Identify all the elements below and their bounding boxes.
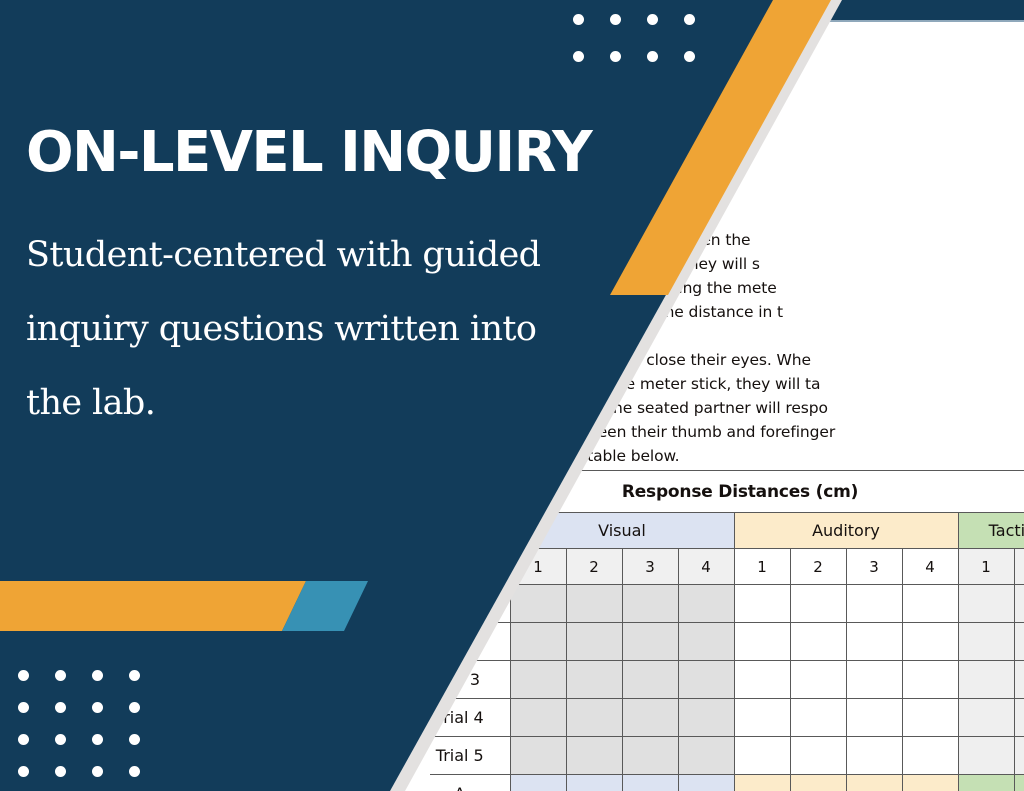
dot-icon <box>55 734 66 745</box>
trial-number-auditory-1: 1 <box>734 549 790 585</box>
data-cell[interactable] <box>510 623 566 661</box>
data-cell[interactable] <box>678 623 734 661</box>
dot-grid-bottom <box>18 670 166 791</box>
data-cell[interactable] <box>1014 775 1024 791</box>
dot-icon <box>610 14 621 25</box>
promo-slide: ...the meter stick fell (before ...re th… <box>0 0 1024 791</box>
data-cell[interactable] <box>790 775 846 791</box>
data-cell[interactable] <box>958 737 1014 775</box>
data-cell[interactable] <box>958 585 1014 623</box>
dot-icon <box>129 734 140 745</box>
dot-icon <box>18 734 29 745</box>
dot-icon <box>610 51 621 62</box>
data-cell[interactable] <box>678 775 734 791</box>
dot-icon <box>129 766 140 777</box>
page-subtitle: Student-centered with guided inquiry que… <box>26 218 546 440</box>
data-cell[interactable] <box>678 661 734 699</box>
trial-number-auditory-2: 2 <box>790 549 846 585</box>
trial-number-visual-4: 4 <box>678 549 734 585</box>
data-cell[interactable] <box>678 699 734 737</box>
data-cell[interactable] <box>958 775 1014 791</box>
data-cell[interactable] <box>1014 699 1024 737</box>
dot-icon <box>92 766 103 777</box>
data-cell[interactable] <box>566 585 622 623</box>
data-cell[interactable] <box>566 623 622 661</box>
dot-icon <box>647 14 658 25</box>
data-cell[interactable] <box>902 737 958 775</box>
data-cell[interactable] <box>902 775 958 791</box>
data-cell[interactable] <box>1014 737 1024 775</box>
dot-icon <box>92 670 103 681</box>
data-cell[interactable] <box>1014 623 1024 661</box>
data-cell[interactable] <box>678 737 734 775</box>
data-cell[interactable] <box>510 737 566 775</box>
data-cell[interactable] <box>846 737 902 775</box>
data-cell[interactable] <box>846 623 902 661</box>
dot-icon <box>55 702 66 713</box>
data-cell[interactable] <box>510 661 566 699</box>
data-cell[interactable] <box>902 585 958 623</box>
data-cell[interactable] <box>846 661 902 699</box>
data-cell[interactable] <box>790 585 846 623</box>
table-row: Trial 5 <box>430 737 1024 775</box>
data-cell[interactable] <box>622 623 678 661</box>
trial-number-auditory-3: 3 <box>846 549 902 585</box>
data-cell[interactable] <box>566 661 622 699</box>
data-cell[interactable] <box>790 737 846 775</box>
data-cell[interactable] <box>958 699 1014 737</box>
dot-icon <box>684 51 695 62</box>
data-cell[interactable] <box>790 661 846 699</box>
data-cell[interactable] <box>846 585 902 623</box>
table-row: 1 <box>430 585 1024 623</box>
data-cell[interactable] <box>510 699 566 737</box>
dot-grid-top <box>573 14 721 88</box>
data-cell[interactable] <box>1014 585 1024 623</box>
dot-icon <box>18 670 29 681</box>
data-cell[interactable] <box>790 699 846 737</box>
data-cell[interactable] <box>958 661 1014 699</box>
data-cell[interactable] <box>622 775 678 791</box>
data-cell[interactable] <box>734 661 790 699</box>
data-cell[interactable] <box>622 737 678 775</box>
table-row: A <box>430 775 1024 791</box>
dot-icon <box>573 51 584 62</box>
dot-icon <box>92 734 103 745</box>
data-cell[interactable] <box>734 775 790 791</box>
dot-icon <box>92 702 103 713</box>
trial-number-visual-2: 2 <box>566 549 622 585</box>
table-row: rial 3 <box>430 661 1024 699</box>
data-cell[interactable] <box>566 737 622 775</box>
data-cell[interactable] <box>902 623 958 661</box>
table-row: al 2 <box>430 623 1024 661</box>
row-label-trial-5: Trial 5 <box>430 737 510 775</box>
trial-number-tactile-1: 1 <box>958 549 1014 585</box>
group-header-auditory: Auditory <box>734 513 958 549</box>
dot-icon <box>684 14 695 25</box>
dot-icon <box>129 670 140 681</box>
data-cell[interactable] <box>734 699 790 737</box>
data-cell[interactable] <box>622 699 678 737</box>
data-cell[interactable] <box>622 661 678 699</box>
data-cell[interactable] <box>510 585 566 623</box>
dot-icon <box>129 702 140 713</box>
data-cell[interactable] <box>622 585 678 623</box>
dot-icon <box>647 51 658 62</box>
data-cell[interactable] <box>734 585 790 623</box>
data-cell[interactable] <box>846 775 902 791</box>
data-cell[interactable] <box>790 623 846 661</box>
data-cell[interactable] <box>902 661 958 699</box>
trial-number-tactile-2: 2 <box>1014 549 1024 585</box>
data-cell[interactable] <box>566 775 622 791</box>
data-cell[interactable] <box>1014 661 1024 699</box>
data-cell[interactable] <box>510 775 566 791</box>
data-cell[interactable] <box>902 699 958 737</box>
data-cell[interactable] <box>734 623 790 661</box>
dot-icon <box>18 702 29 713</box>
data-cell[interactable] <box>734 737 790 775</box>
trial-number-auditory-4: 4 <box>902 549 958 585</box>
data-cell[interactable] <box>678 585 734 623</box>
dot-icon <box>573 14 584 25</box>
dot-icon <box>55 766 66 777</box>
data-cell[interactable] <box>846 699 902 737</box>
row-label-average: A <box>430 775 510 791</box>
group-header-tactile: Tactile <box>958 513 1024 549</box>
dot-icon <box>55 670 66 681</box>
page-title: ON-LEVEL INQUIRY <box>26 124 726 182</box>
trial-number-visual-3: 3 <box>622 549 678 585</box>
data-cell[interactable] <box>566 699 622 737</box>
dot-icon <box>18 766 29 777</box>
table-row: Trial 4 <box>430 699 1024 737</box>
data-cell[interactable] <box>958 623 1014 661</box>
